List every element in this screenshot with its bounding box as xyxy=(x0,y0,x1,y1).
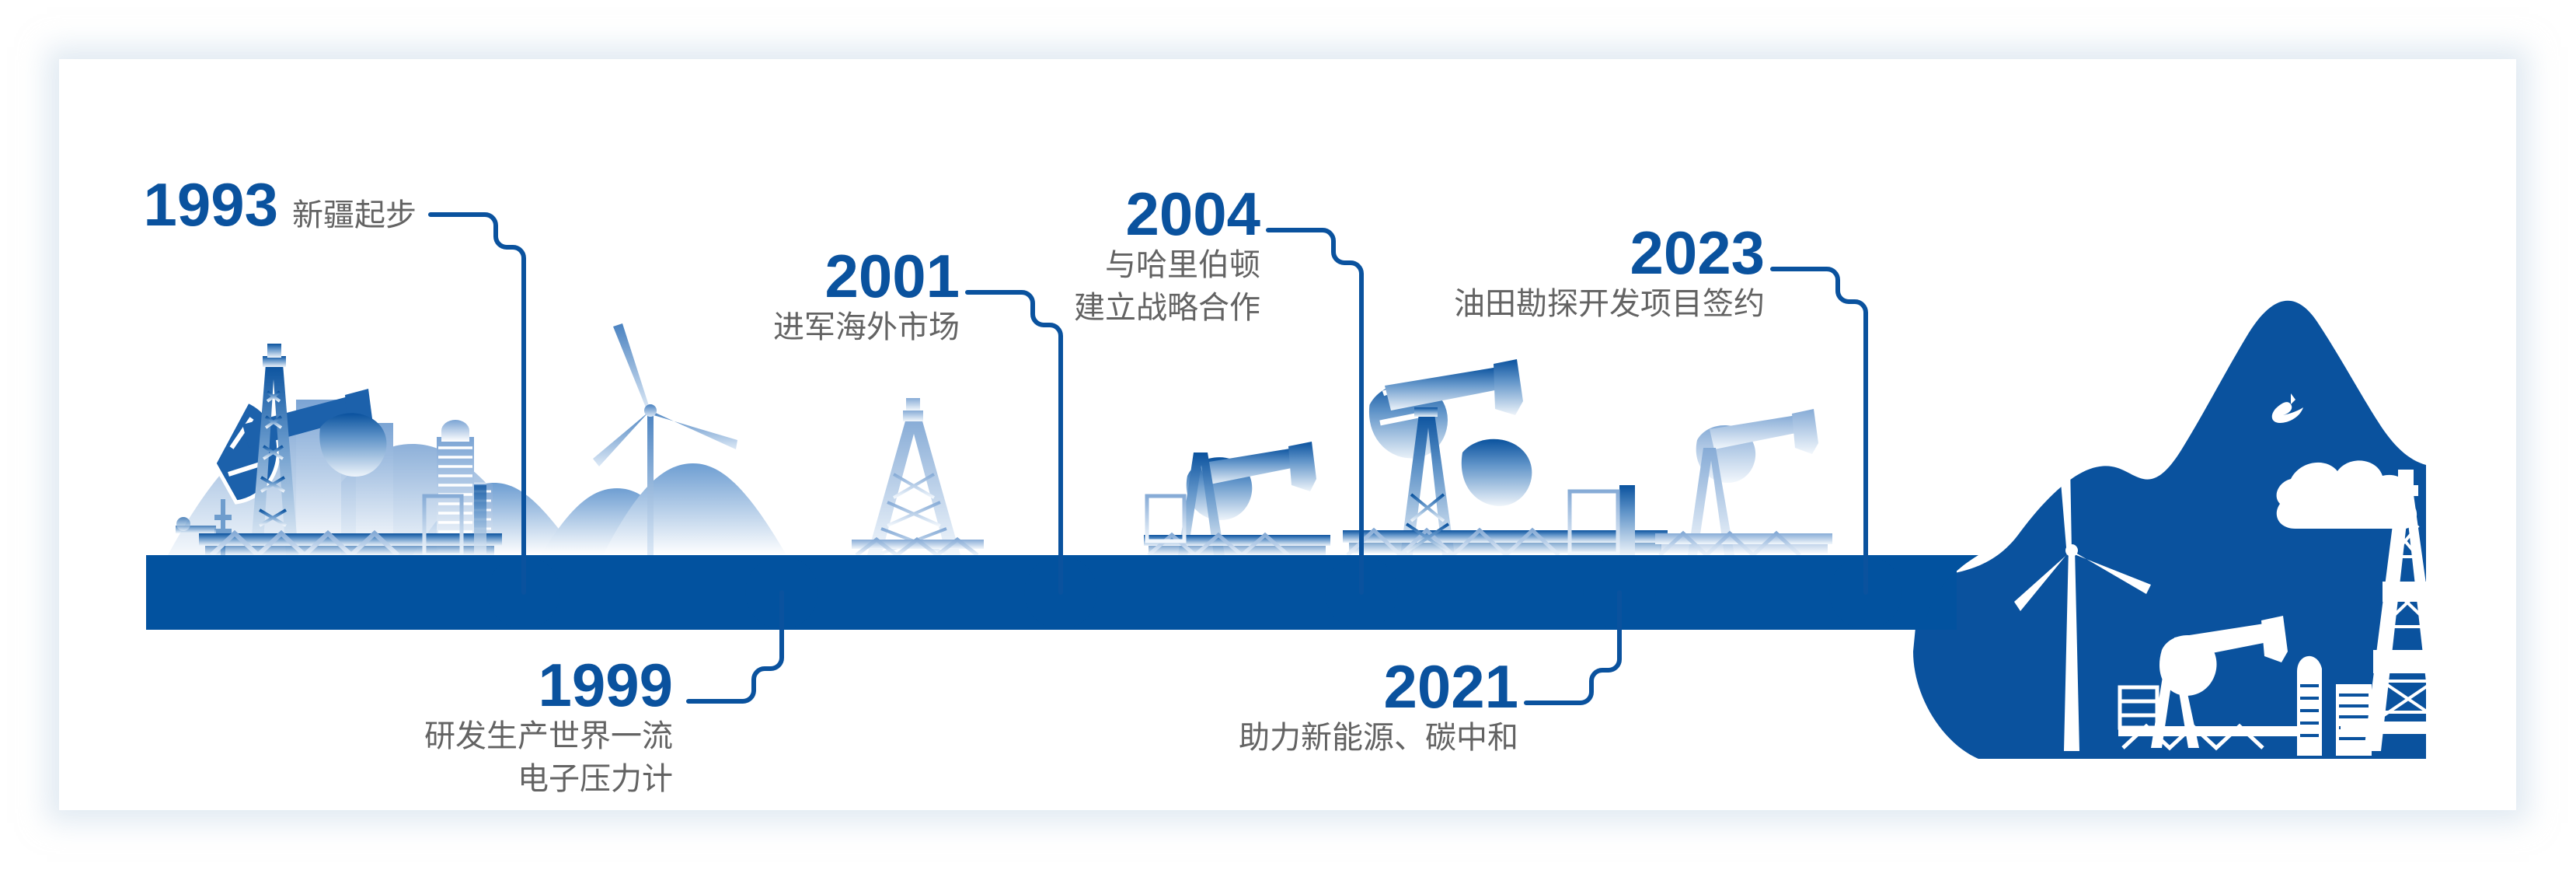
milestone-year: 1993 xyxy=(143,174,278,235)
milestone-year: 1999 xyxy=(300,655,673,715)
left-scene xyxy=(168,323,786,555)
milestone-label-2023[interactable]: 2023 油田勘探开发项目签约 xyxy=(1376,222,1765,326)
milestone-label-2004[interactable]: 2004 与哈里伯顿 建立战略合作 xyxy=(903,183,1260,330)
milestone-desc-line: 助力新能源、碳中和 xyxy=(1145,717,1518,760)
milestone-desc-line: 与哈里伯顿 xyxy=(903,244,1260,287)
milestone-desc-line: 建立战略合作 xyxy=(903,287,1260,330)
mid-scene-pumpjack xyxy=(1144,442,1330,555)
milestone-year: 2021 xyxy=(1145,656,1518,717)
timeline-card: 1993 新疆起步 1999 研发生产世界一流 电子压力计 2001 进军海外市… xyxy=(59,59,2516,810)
milestone-year: 2004 xyxy=(903,183,1260,244)
mid-scene-small-pumpjack xyxy=(1655,409,1832,555)
timeline-infographic: 1993 新疆起步 1999 研发生产世界一流 电子压力计 2001 进军海外市… xyxy=(0,0,2576,870)
milestone-year: 2023 xyxy=(1376,222,1765,283)
right-scene xyxy=(1913,301,2471,759)
milestone-desc-line: 油田勘探开发项目签约 xyxy=(1376,283,1765,326)
milestone-label-1993[interactable]: 1993 新疆起步 xyxy=(59,174,417,237)
milestone-desc-line: 研发生产世界一流 xyxy=(300,715,673,758)
mid-scene-derrick xyxy=(852,398,984,555)
mid-scene-big-rig xyxy=(1343,359,1668,555)
milestone-desc-line: 新疆起步 xyxy=(292,194,417,237)
hill-icon xyxy=(603,463,786,555)
milestone-label-1999[interactable]: 1999 研发生产世界一流 电子压力计 xyxy=(300,655,673,801)
milestone-desc-line: 电子压力计 xyxy=(300,758,673,801)
milestone-label-2021[interactable]: 2021 助力新能源、碳中和 xyxy=(1145,656,1518,760)
